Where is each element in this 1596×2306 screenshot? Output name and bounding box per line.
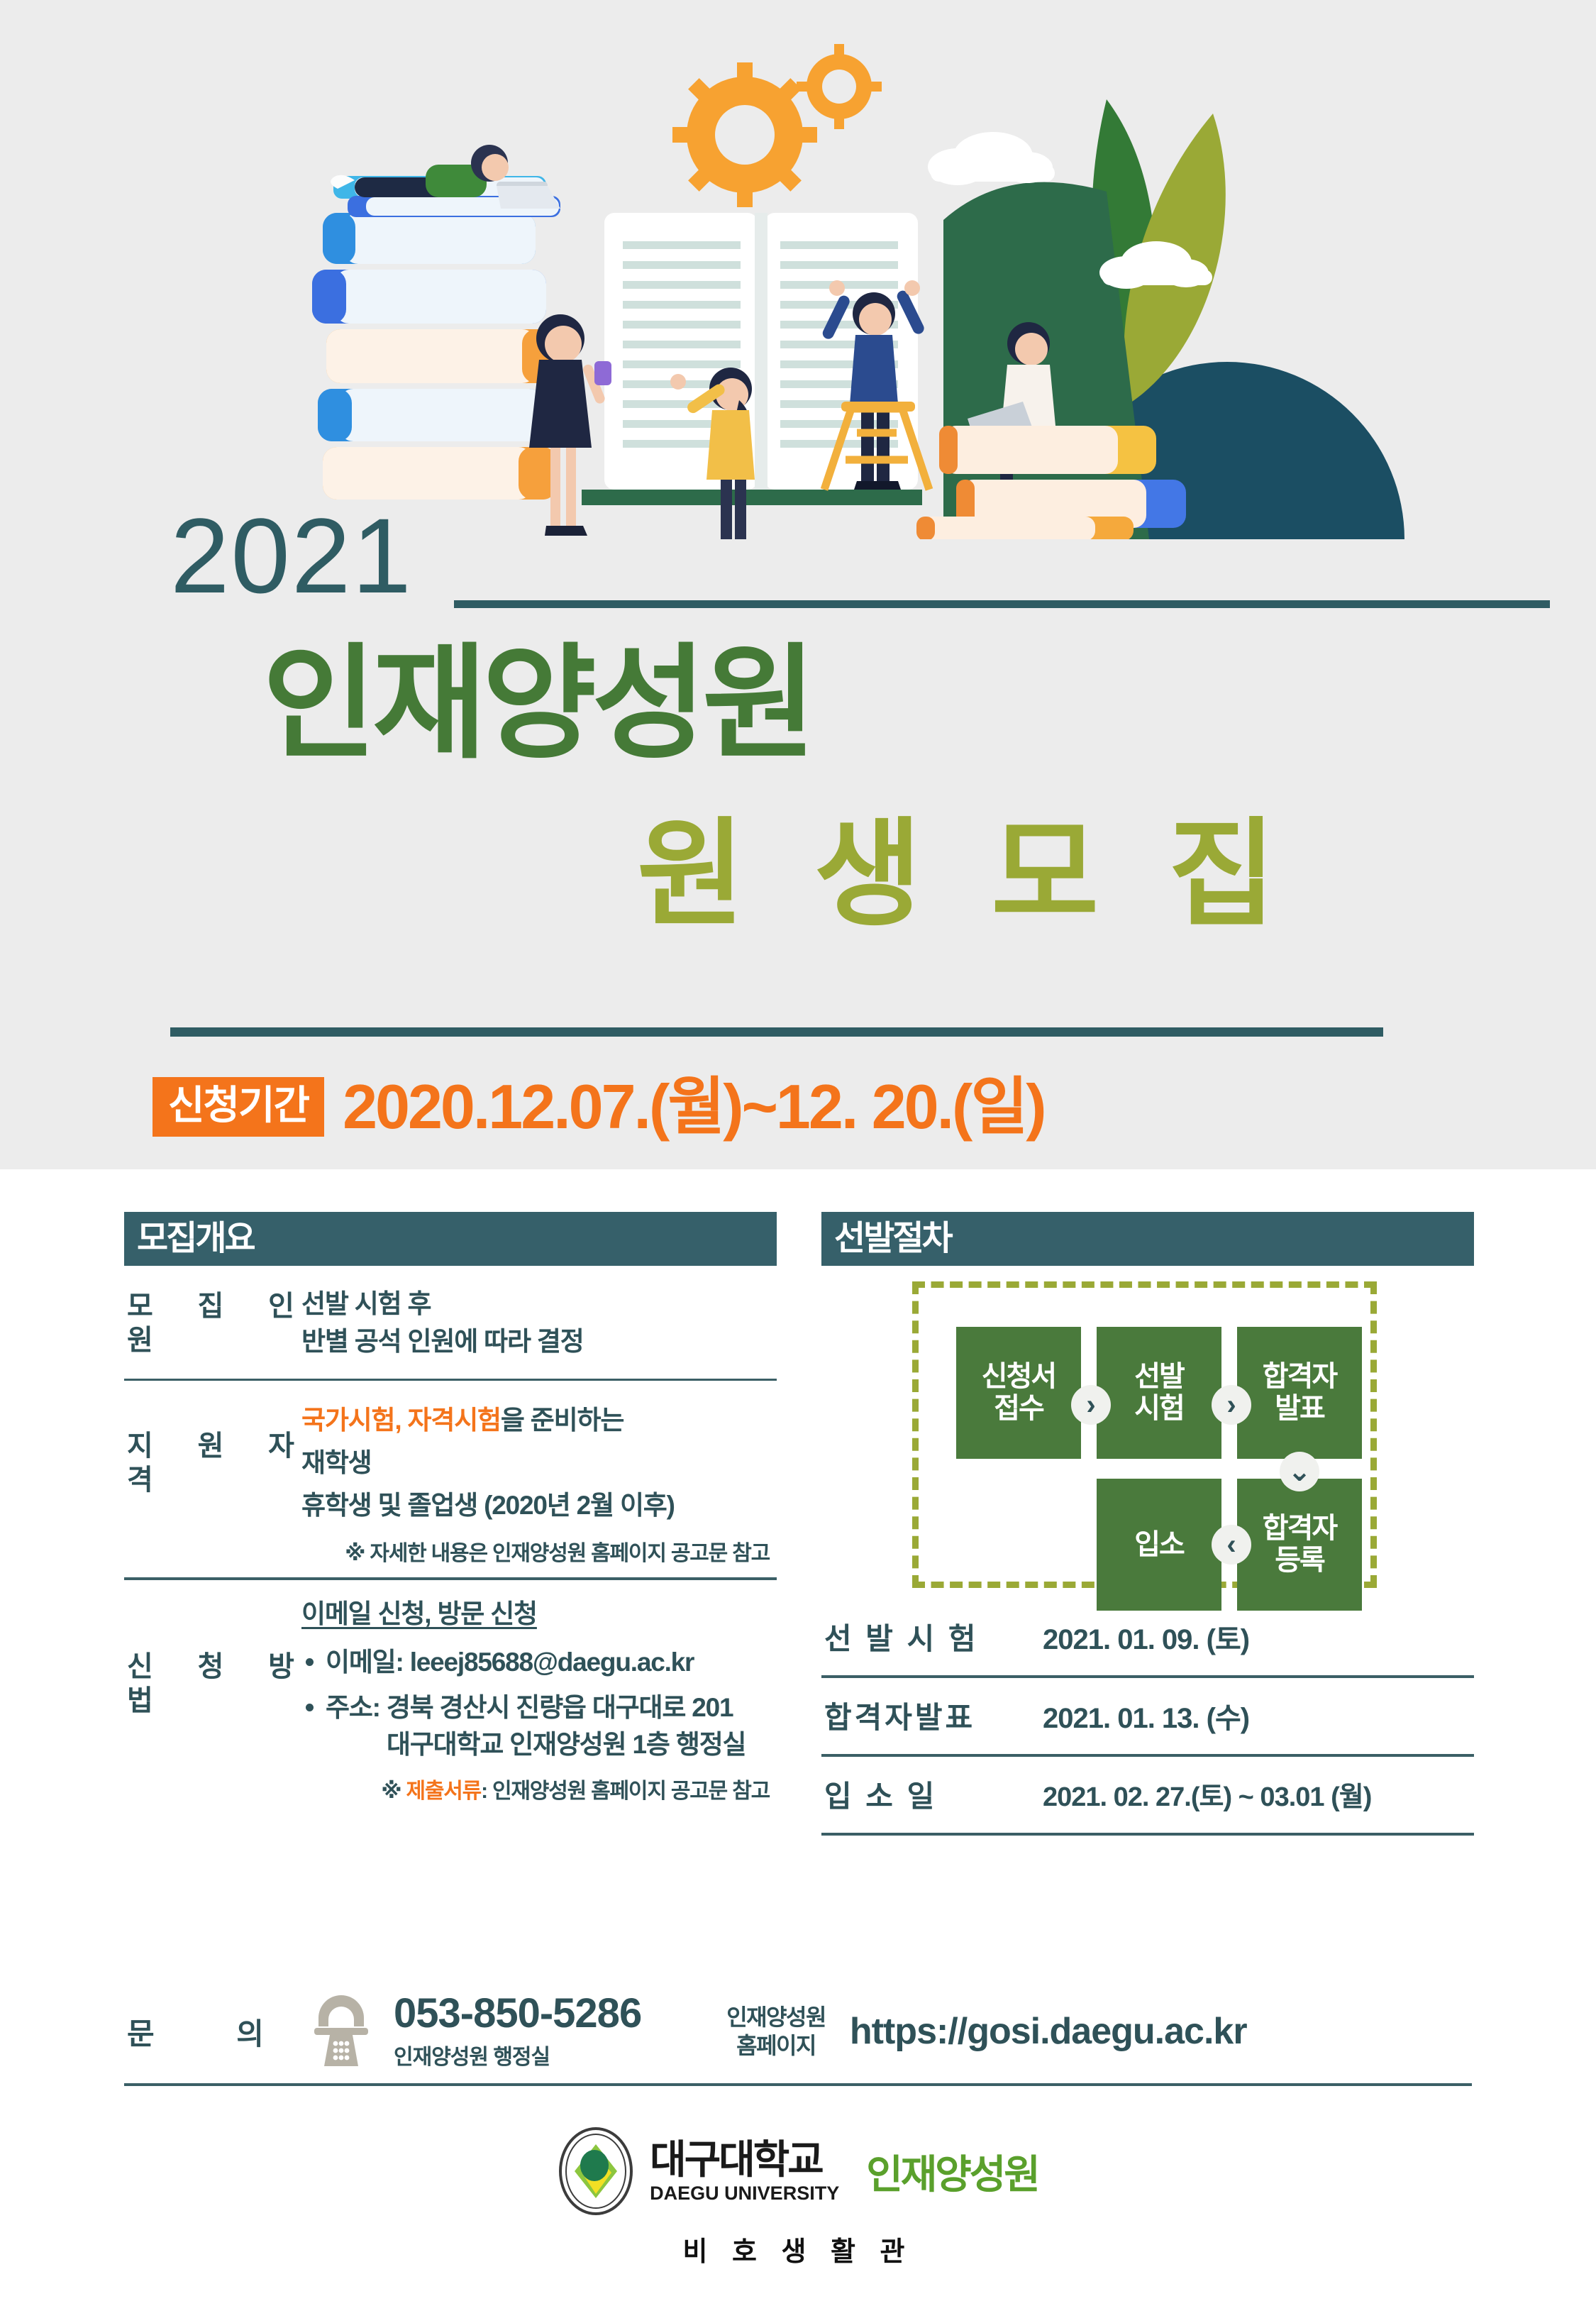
- eligibility-line2: 재학생: [301, 1442, 777, 1484]
- flow-step-enter: 입소: [1097, 1479, 1221, 1611]
- flow-step-application-line1: 신청서: [982, 1361, 1055, 1393]
- year-row: 2021: [170, 509, 1419, 623]
- schedule-row-entry: 입 소 일 2021. 02. 27.(토) ~ 03.01 (월): [821, 1757, 1474, 1836]
- contact-strip: 문 의 053-850-5286 인재양성원 행정실: [124, 1980, 1472, 2086]
- selection-flowchart: 신청서 접수 선발 시험 합격자 발표 입소 합격자 등록: [821, 1266, 1474, 1599]
- application-period-badge: 신청기간: [153, 1077, 324, 1137]
- recruit-overview-header-label: 모집개요: [137, 1222, 254, 1256]
- apply-bullet-address: 주소: 경북 경산시 진량읍 대구대로 201 대구대학교 인재양성원 1층 행…: [301, 1689, 777, 1763]
- telephone-icon-glyph: [306, 1992, 377, 2070]
- arrow-right-icon-1: ›: [1071, 1385, 1111, 1425]
- phone-block: 053-850-5286 인재양성원 행정실: [381, 1992, 641, 2071]
- apply-heading: 이메일 신청, 방문 신청: [301, 1596, 777, 1633]
- recruit-overview-column: 모집개요 모 집 인 원 선발 시험 후 반별 공석 인원에 따라 결정 지 원…: [124, 1212, 777, 1815]
- schedule-row-announce: 합격자발표 2021. 01. 13. (수): [821, 1678, 1474, 1757]
- flow-step-announce: 합격자 발표: [1237, 1327, 1362, 1459]
- selection-procedure-header-label: 선발절차: [834, 1222, 951, 1256]
- flow-step-enter-line1: 입소: [1134, 1529, 1184, 1561]
- recruit-count-line2: 반별 공석 인원에 따라 결정: [301, 1323, 777, 1361]
- logo-row: 대구대학교 DAEGU UNIVERSITY 인재양성원: [558, 2126, 1038, 2217]
- application-period-row: 신청기간 2020.12.07.(월)~12. 20.(일): [153, 1064, 1045, 1149]
- body-section: 모집개요 모 집 인 원 선발 시험 후 반별 공석 인원에 따라 결정 지 원…: [0, 1169, 1596, 2306]
- university-names: 대구대학교 DAEGU UNIVERSITY: [650, 2140, 839, 2203]
- website-label: 인재양성원 홈페이지: [641, 2003, 826, 2060]
- flow-step-announce-line2: 발표: [1275, 1393, 1324, 1425]
- year-rule: [454, 600, 1550, 608]
- arrow-right-icon-2: ›: [1212, 1385, 1251, 1425]
- institute-name: 인재양성원: [855, 2143, 1038, 2200]
- schedule-row-announce-label: 합격자발표: [821, 1694, 1027, 1737]
- arrow-down-icon: ⌄: [1280, 1452, 1319, 1491]
- flow-step-register-line1: 합격자: [1263, 1513, 1336, 1545]
- apply-address-line2: 대구대학교 인재양성원 1층 행정실: [326, 1726, 777, 1763]
- flow-step-register-line2: 등록: [1275, 1545, 1324, 1577]
- row-apply-method: 신 청 방 법 이메일 신청, 방문 신청 이메일: leeej85688@da…: [124, 1580, 777, 1773]
- note-documents: ※ 제출서류: 인재양성원 홈페이지 공고문 참고: [124, 1773, 777, 1815]
- row-recruit-count: 모 집 인 원 선발 시험 후 반별 공석 인원에 따라 결정: [124, 1266, 777, 1381]
- row-eligibility-label: 지 원 자 격: [124, 1429, 301, 1497]
- eligibility-line1: 국가시험, 자격시험을 준비하는: [301, 1399, 777, 1442]
- contact-label: 문 의: [124, 2010, 301, 2053]
- daegu-university-emblem: [558, 2126, 634, 2217]
- poster-root: 2021 인재양성원 원 생 모 집 신청기간 2020.12.07.(월)~1…: [0, 0, 1596, 2306]
- building-name: 비 호 생 활 관: [682, 2217, 913, 2268]
- row-eligibility: 지 원 자 격 국가시험, 자격시험을 준비하는 재학생 휴학생 및 졸업생 (…: [124, 1381, 777, 1530]
- schedule-row-entry-value: 2021. 02. 27.(토) ~ 03.01 (월): [1027, 1775, 1474, 1814]
- row-apply-method-label: 신 청 방 법: [124, 1650, 301, 1718]
- schedule-row-entry-label: 입 소 일: [821, 1772, 1027, 1816]
- row-eligibility-value: 국가시험, 자격시험을 준비하는 재학생 휴학생 및 졸업생 (2020년 2월…: [301, 1399, 777, 1527]
- note-documents-rest: : 인재양성원 홈페이지 공고문 참고: [481, 1780, 770, 1803]
- row-apply-method-value: 이메일 신청, 방문 신청 이메일: leeej85688@daegu.ac.k…: [301, 1596, 777, 1772]
- website-url[interactable]: https://gosi.daegu.ac.kr: [826, 2010, 1247, 2053]
- hero-section: 2021 인재양성원 원 생 모 집 신청기간 2020.12.07.(월)~1…: [0, 0, 1596, 1169]
- note-documents-highlight: 제출서류: [406, 1780, 481, 1803]
- recruit-count-line1: 선발 시험 후: [301, 1286, 777, 1323]
- logo-footer: 대구대학교 DAEGU UNIVERSITY 인재양성원 비 호 생 활 관: [0, 2126, 1596, 2268]
- website-label-line2: 홈페이지: [726, 2031, 826, 2060]
- telephone-icon: [301, 1992, 381, 2070]
- eligibility-line1-rest: 을 준비하는: [501, 1406, 624, 1435]
- schedule-row-exam: 선 발 시 험 2021. 01. 09. (토): [821, 1599, 1474, 1678]
- note-documents-mark: ※: [381, 1780, 406, 1803]
- website-label-line1: 인재양성원: [726, 2003, 826, 2031]
- poster-title-sub: 원 생 모 집: [637, 816, 1295, 933]
- poster-title-main: 인재양성원: [262, 642, 812, 766]
- hero-illustration: [0, 0, 1596, 539]
- note-qualification: ※ 자세한 내용은 인재양성원 홈페이지 공고문 참고: [124, 1530, 777, 1577]
- flow-step-application: 신청서 접수: [956, 1327, 1081, 1459]
- apply-address-line1: 주소: 경북 경산시 진량읍 대구대로 201: [326, 1693, 733, 1722]
- schedule-row-exam-value: 2021. 01. 09. (토): [1027, 1616, 1474, 1657]
- selection-procedure-column: 선발절차 신청서 접수 선발 시험 합격자 발표 입소: [821, 1212, 1474, 1836]
- flow-step-exam-line2: 시험: [1134, 1393, 1184, 1425]
- apply-bullet-list: 이메일: leeej85688@daegu.ac.kr 주소: 경북 경산시 진…: [301, 1644, 777, 1762]
- flow-step-application-line2: 접수: [994, 1393, 1043, 1425]
- recruit-overview-header: 모집개요: [124, 1212, 777, 1266]
- phone-number[interactable]: 053-850-5286: [394, 1992, 641, 2036]
- schedule-row-exam-label: 선 발 시 험: [821, 1615, 1027, 1658]
- flow-step-register: 합격자 등록: [1237, 1479, 1362, 1611]
- university-name-en: DAEGU UNIVERSITY: [650, 2180, 839, 2203]
- flow-step-announce-line1: 합격자: [1263, 1361, 1336, 1393]
- flow-step-exam-line1: 선발: [1134, 1361, 1184, 1393]
- year-text: 2021: [170, 502, 413, 609]
- flow-step-exam: 선발 시험: [1097, 1327, 1221, 1459]
- selection-procedure-header: 선발절차: [821, 1212, 1474, 1266]
- row-recruit-count-label: 모 집 인 원: [124, 1289, 301, 1357]
- arrow-left-icon: ‹: [1212, 1525, 1251, 1565]
- university-name-ko: 대구대학교: [650, 2140, 839, 2180]
- phone-office: 인재양성원 행정실: [394, 2035, 641, 2070]
- apply-bullet-email: 이메일: leeej85688@daegu.ac.kr: [301, 1644, 777, 1681]
- eligibility-highlight: 국가시험, 자격시험: [301, 1406, 501, 1435]
- eligibility-line3: 휴학생 및 졸업생 (2020년 2월 이후): [301, 1484, 777, 1527]
- application-period-value: 2020.12.07.(월)~12. 20.(일): [343, 1076, 1045, 1138]
- title-bottom-rule: [170, 1027, 1383, 1037]
- row-recruit-count-value: 선발 시험 후 반별 공석 인원에 따라 결정: [301, 1286, 777, 1360]
- schedule-row-announce-value: 2021. 01. 13. (수): [1027, 1695, 1474, 1736]
